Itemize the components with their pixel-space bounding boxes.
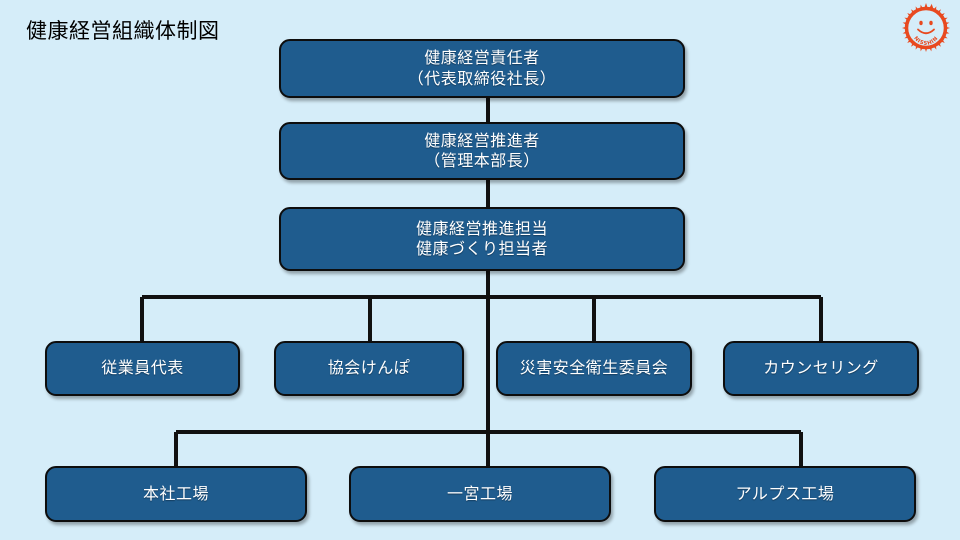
org-node-alps-plant[interactable]: アルプス工場 <box>654 466 916 522</box>
org-node-label: カウンセリング <box>763 358 879 378</box>
org-node-label: 健康経営責任者 （代表取締役社長） <box>408 48 557 89</box>
org-node-label: 健康経営推進者 （管理本部長） <box>424 131 540 172</box>
org-node-kyokai-kenpo[interactable]: 協会けんぽ <box>274 341 464 396</box>
org-node-health-management-promoter[interactable]: 健康経営推進者 （管理本部長） <box>279 122 685 180</box>
org-node-label: 災害安全衛生委員会 <box>520 358 669 378</box>
org-chart-slide: 健康経営組織体制図 <box>0 0 960 540</box>
nisshin-sun-logo: NISSHIN <box>900 3 952 53</box>
org-node-label: 一宮工場 <box>447 484 513 504</box>
page-title: 健康経営組織体制図 <box>26 19 220 44</box>
org-node-health-management-officer[interactable]: 健康経営責任者 （代表取締役社長） <box>279 39 685 98</box>
org-node-ichinomiya-plant[interactable]: 一宮工場 <box>349 466 611 522</box>
org-node-label: 本社工場 <box>143 484 209 504</box>
org-node-counseling[interactable]: カウンセリング <box>723 341 919 396</box>
org-node-safety-health-committee[interactable]: 災害安全衛生委員会 <box>496 341 692 396</box>
org-node-label: 健康経営推進担当 健康づくり担当者 <box>416 219 548 260</box>
org-node-label: 協会けんぽ <box>328 358 411 378</box>
org-node-label: 従業員代表 <box>101 358 184 378</box>
org-node-employee-representative[interactable]: 従業員代表 <box>45 341 240 396</box>
org-node-health-promotion-staff[interactable]: 健康経営推進担当 健康づくり担当者 <box>279 207 685 271</box>
org-node-head-office-plant[interactable]: 本社工場 <box>45 466 307 522</box>
org-node-label: アルプス工場 <box>736 484 835 504</box>
